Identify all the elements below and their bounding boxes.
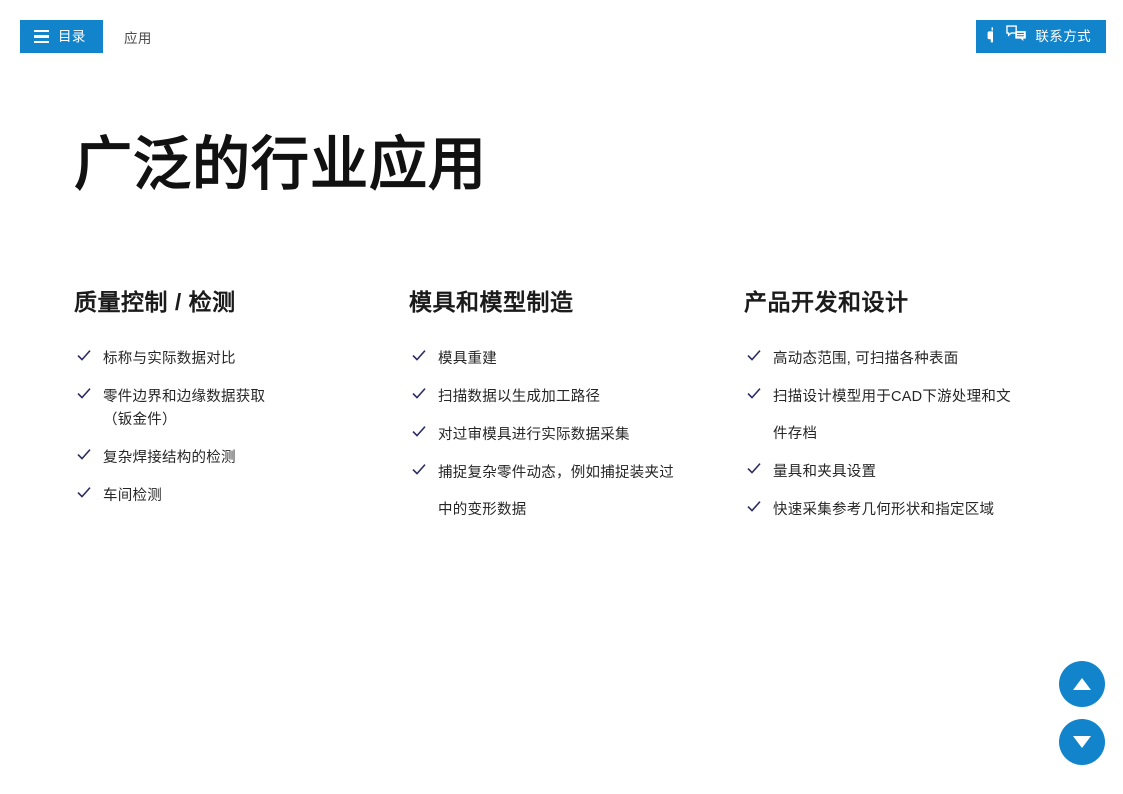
list-item-line: 模具重建: [438, 347, 744, 368]
list-item-line: 捕捉复杂零件动态，例如捕捉装夹过: [438, 461, 744, 482]
list-item-line: 快速采集参考几何形状和指定区域: [773, 498, 1079, 519]
check-icon: [412, 463, 426, 476]
column-title: 产品开发和设计: [744, 283, 1079, 317]
top-navigation-bar: 目录 应用 联系方式: [0, 0, 1123, 72]
column-product-development-and-design: 产品开发和设计 高动态范围, 可扫描各种表面 扫描设计模型用于CAD下游处理和文…: [744, 283, 1079, 536]
list-item: 模具重建: [409, 347, 744, 368]
list-item-line: 车间检测: [103, 484, 409, 505]
list-item-line-wrapped: 件存档: [773, 422, 1079, 443]
scroll-up-button[interactable]: [1059, 661, 1105, 707]
list-item: 扫描数据以生成加工路径: [409, 385, 744, 406]
check-icon: [747, 387, 761, 400]
list-item: 快速采集参考几何形状和指定区域: [744, 498, 1079, 519]
triangle-up-icon: [1073, 678, 1091, 690]
check-icon: [77, 349, 91, 362]
triangle-down-icon: [1073, 736, 1091, 748]
list-item-line-wrapped: （钣金件）: [103, 408, 409, 429]
chat-bubble-icon: [1006, 25, 1027, 48]
list-item-line: 高动态范围, 可扫描各种表面: [773, 347, 1079, 368]
list-item-line: 复杂焊接结构的检测: [103, 446, 409, 467]
list-item-line: 零件边界和边缘数据获取: [103, 385, 409, 406]
column-title: 模具和模型制造: [409, 283, 744, 317]
check-icon: [77, 448, 91, 461]
scroll-down-button[interactable]: [1059, 719, 1105, 765]
page-title: 广泛的行业应用: [74, 131, 487, 199]
check-icon: [747, 500, 761, 513]
list-item: 捕捉复杂零件动态，例如捕捉装夹过 中的变形数据: [409, 461, 744, 519]
check-icon: [412, 349, 426, 362]
scroll-navigation: [1059, 661, 1105, 765]
column-mold-and-model-manufacturing: 模具和模型制造 模具重建 扫描数据以生成加工路径 对过审模具进行实际数据采集 捕…: [409, 283, 744, 536]
list-item-line: 扫描设计模型用于CAD下游处理和文: [773, 385, 1079, 406]
contact-button-label: 联系方式: [1035, 30, 1091, 44]
list-item: 标称与实际数据对比: [74, 347, 409, 368]
list-item: 扫描设计模型用于CAD下游处理和文 件存档: [744, 385, 1079, 443]
list-item: 复杂焊接结构的检测: [74, 446, 409, 467]
column-item-list: 高动态范围, 可扫描各种表面 扫描设计模型用于CAD下游处理和文 件存档 量具和…: [744, 347, 1079, 519]
contact-button[interactable]: 联系方式: [993, 20, 1106, 53]
list-item-line: 量具和夹具设置: [773, 460, 1079, 481]
applications-columns: 质量控制 / 检测 标称与实际数据对比 零件边界和边缘数据获取 （钣金件） 复杂…: [74, 283, 1084, 536]
list-item-line-wrapped: 中的变形数据: [438, 498, 744, 519]
list-item: 车间检测: [74, 484, 409, 505]
list-item-line: 扫描数据以生成加工路径: [438, 385, 744, 406]
list-item: 高动态范围, 可扫描各种表面: [744, 347, 1079, 368]
list-item: 零件边界和边缘数据获取 （钣金件）: [74, 385, 409, 429]
check-icon: [77, 387, 91, 400]
table-of-contents-button[interactable]: 目录: [20, 20, 103, 53]
check-icon: [412, 387, 426, 400]
check-icon: [747, 462, 761, 475]
column-title: 质量控制 / 检测: [74, 283, 409, 317]
check-icon: [747, 349, 761, 362]
column-item-list: 模具重建 扫描数据以生成加工路径 对过审模具进行实际数据采集 捕捉复杂零件动态，…: [409, 347, 744, 519]
check-icon: [412, 425, 426, 438]
list-item: 对过审模具进行实际数据采集: [409, 423, 744, 444]
list-item-line: 对过审模具进行实际数据采集: [438, 423, 744, 444]
hamburger-icon: [34, 30, 49, 43]
list-item: 量具和夹具设置: [744, 460, 1079, 481]
toc-button-label: 目录: [58, 30, 86, 44]
column-quality-control: 质量控制 / 检测 标称与实际数据对比 零件边界和边缘数据获取 （钣金件） 复杂…: [74, 283, 409, 536]
nav-tab-applications[interactable]: 应用: [124, 27, 152, 47]
column-item-list: 标称与实际数据对比 零件边界和边缘数据获取 （钣金件） 复杂焊接结构的检测 车间…: [74, 347, 409, 505]
check-icon: [77, 486, 91, 499]
list-item-line: 标称与实际数据对比: [103, 347, 409, 368]
